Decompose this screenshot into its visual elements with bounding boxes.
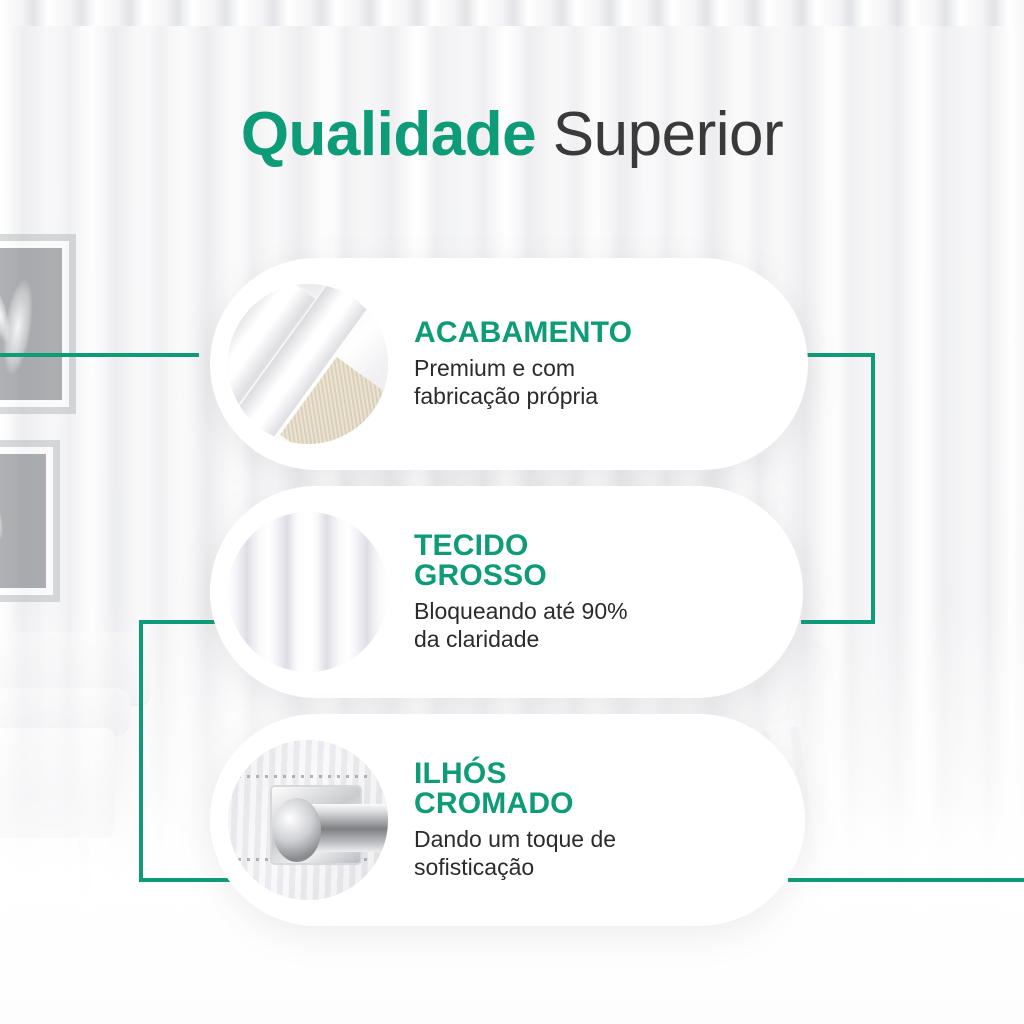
- thumb-image: [228, 284, 388, 444]
- feature-card-acabamento[interactable]: ACABAMENTO Premium e com fabricação próp…: [210, 258, 808, 470]
- card-heading: ILHÓS CROMADO: [414, 759, 616, 820]
- wall-picture-frame-top: [0, 234, 76, 414]
- feature-card-ilhos-cromado[interactable]: ILHÓS CROMADO Dando um toque de sofistic…: [210, 714, 805, 926]
- curtain-rod-cap: [273, 798, 321, 862]
- fabric-hem-photo-icon: [228, 284, 388, 444]
- page-title: Qualidade Superior: [0, 104, 1024, 166]
- thumb-image: [228, 512, 388, 672]
- thumb-image: [228, 740, 388, 900]
- card-heading: ACABAMENTO: [414, 318, 632, 349]
- frame-artwork: [0, 248, 62, 400]
- card-body: Bloqueando até 90% da claridade: [414, 597, 628, 653]
- chrome-grommet-photo-icon: [228, 740, 388, 900]
- fabric-highlight: [289, 512, 324, 672]
- frame-artwork: [0, 454, 46, 588]
- card-text-block: ILHÓS CROMADO Dando um toque de sofistic…: [414, 759, 616, 881]
- card-text-block: TECIDO GROSSO Bloqueando até 90% da clar…: [414, 531, 628, 653]
- curtain-header-tape: [0, 0, 1024, 26]
- title-rest-word: Superior: [536, 100, 783, 169]
- card-body: Premium e com fabricação própria: [414, 354, 632, 410]
- card-heading: TECIDO GROSSO: [414, 531, 628, 592]
- feather-artwork-icon-small: [0, 484, 7, 542]
- thick-curtain-fabric-photo-icon: [228, 512, 388, 672]
- card-text-block: ACABAMENTO Premium e com fabricação próp…: [414, 318, 632, 410]
- title-accent-word: Qualidade: [241, 100, 536, 169]
- card-body: Dando um toque de sofisticação: [414, 825, 616, 881]
- wall-picture-frame-bottom: [0, 440, 60, 602]
- stitch-line: [238, 775, 372, 778]
- feature-card-tecido-grosso[interactable]: TECIDO GROSSO Bloqueando até 90% da clar…: [210, 486, 803, 698]
